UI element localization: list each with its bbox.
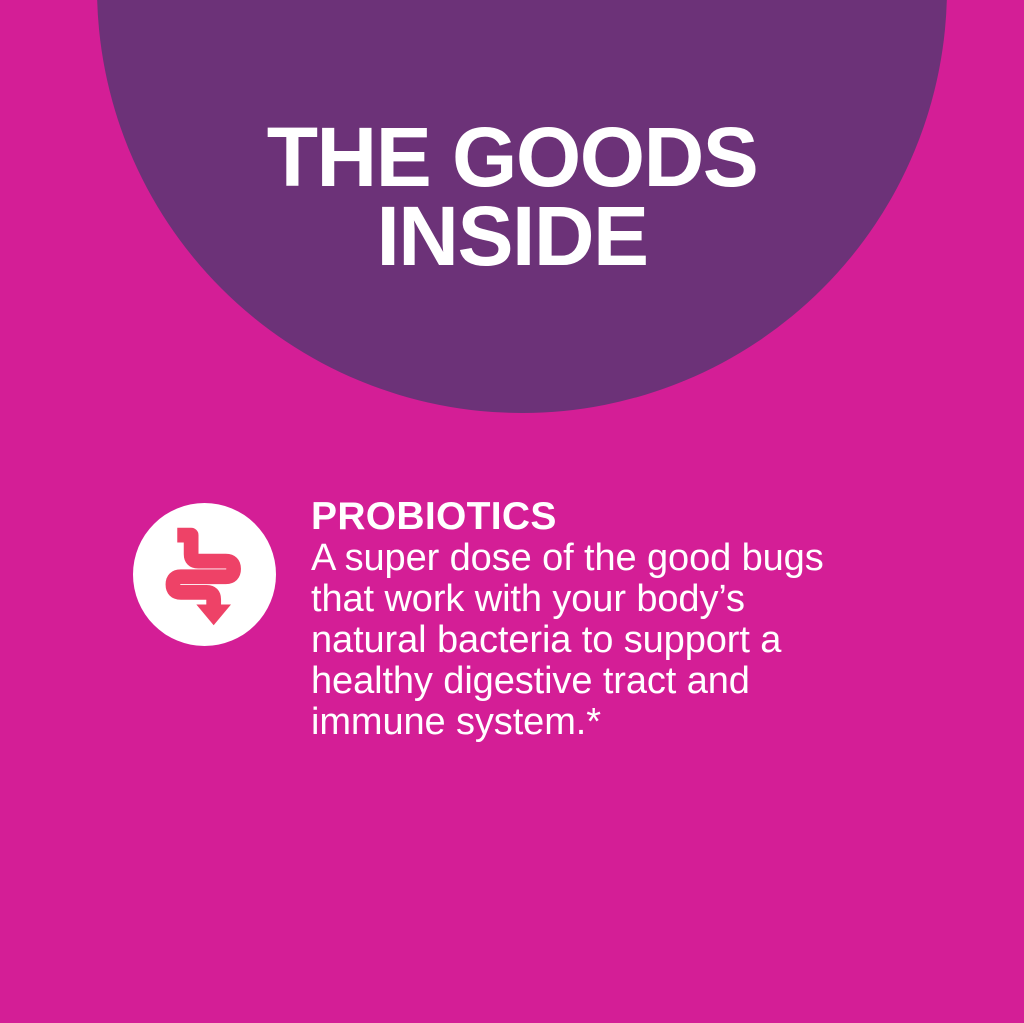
benefit-title: PROBIOTICS bbox=[311, 496, 824, 538]
benefit-description: A super dose of the good bugs that work … bbox=[311, 538, 824, 743]
page-title: THE GOODS INSIDE bbox=[0, 118, 1024, 276]
promo-card: THE GOODS INSIDE PROBIOTICS A super dose… bbox=[0, 0, 1024, 1023]
intestine-digestive-tract-icon bbox=[153, 523, 257, 627]
benefit-item-probiotics: PROBIOTICS A super dose of the good bugs… bbox=[133, 496, 963, 743]
benefit-copy: PROBIOTICS A super dose of the good bugs… bbox=[311, 496, 824, 743]
benefit-icon-badge bbox=[133, 503, 276, 646]
